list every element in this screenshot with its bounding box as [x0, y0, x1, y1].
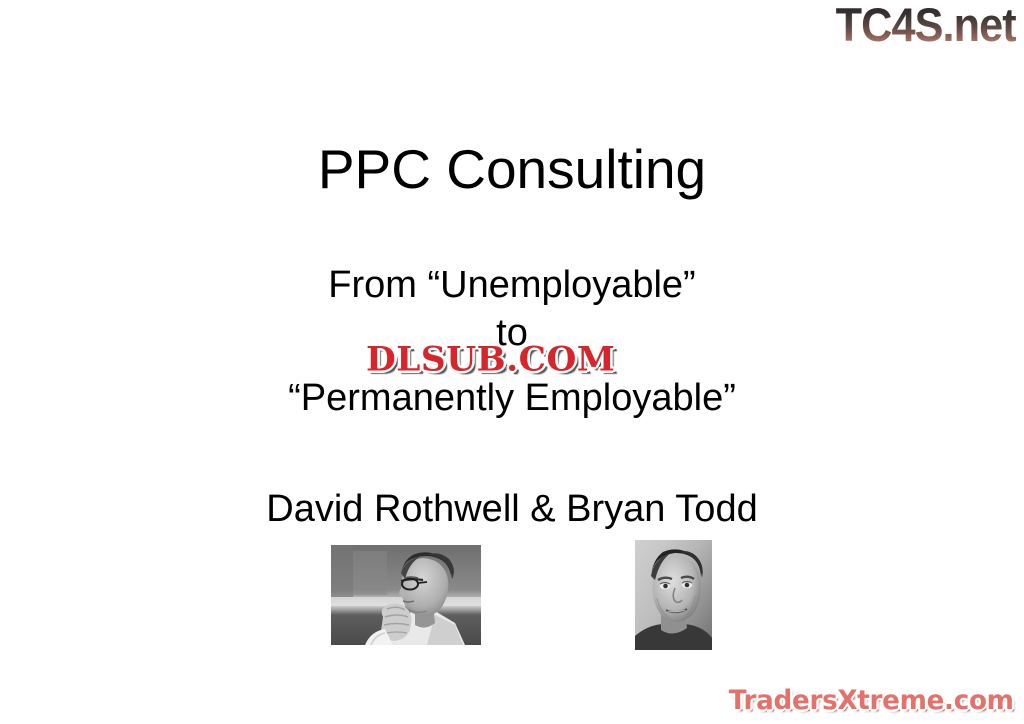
tc4s-watermark: TC4S.net	[836, 0, 1016, 52]
presentation-slide: TC4S.net PPC Consulting From “Unemployab…	[0, 0, 1024, 724]
dlsub-watermark: DLSUB.COM	[366, 339, 615, 379]
portrait-illustration-right	[635, 540, 712, 650]
authors-line: David Rothwell & Bryan Todd	[0, 489, 1024, 531]
david-rothwell-photo	[331, 545, 481, 645]
slide-title: PPC Consulting	[0, 138, 1024, 201]
bryan-todd-photo	[635, 540, 712, 650]
portrait-illustration-left	[331, 545, 481, 645]
tradersxtreme-watermark: TradersXtreme.com	[729, 685, 1014, 716]
subtitle-line-1: From “Unemployable”	[0, 265, 1024, 307]
subtitle-line-3: “Permanently Employable”	[0, 378, 1024, 420]
